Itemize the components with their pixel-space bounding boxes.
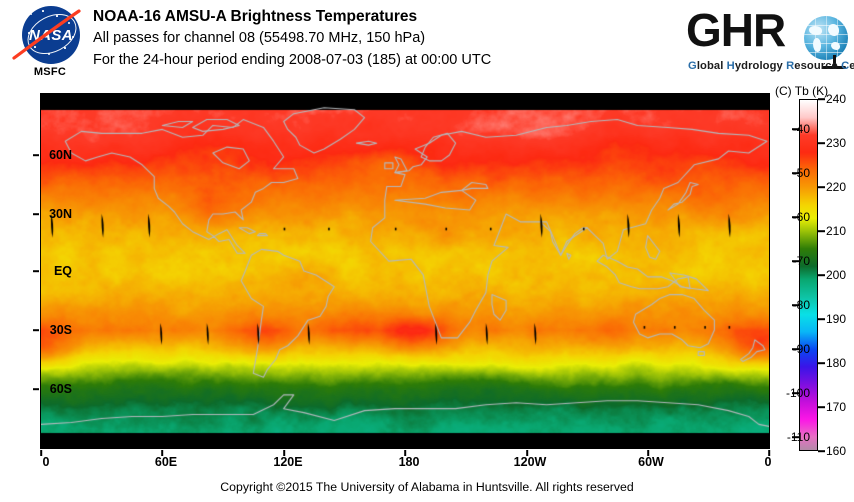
x-axis-tick [40,450,42,456]
colorbar-tick-kelvin [818,274,825,276]
x-axis-tick [404,450,406,456]
colorbar-label-kelvin-240: 240 [826,92,846,106]
colorbar-tick-kelvin [818,186,825,188]
colorbar-tick-kelvin [818,142,825,144]
x-axis-tick [161,450,163,456]
x-axis-tick [283,450,285,456]
globe-icon [804,16,848,60]
y-axis-tick [33,270,39,272]
copyright-notice: Copyright ©2015 The University of Alabam… [0,480,854,494]
x-axis-label-180: 180 [399,455,420,469]
colorbar: 240230220210200190180170160-40-50-60-70-… [799,99,818,451]
colorbar-label-celsius-50: -50 [793,166,810,180]
ghrc-tagline: Global Hydrology Resource Center [688,60,854,72]
ghrc-logo: GHR Global Hydrology Resource Center [686,5,850,77]
x-axis-label-60e: 60E [155,455,177,469]
nasa-center-label: MSFC [12,66,88,78]
colorbar-tick-kelvin [818,318,825,320]
y-axis-tick [33,213,39,215]
page-title: NOAA-16 AMSU-A Brightness Temperatures [93,6,693,27]
x-axis-label-120e: 120E [273,455,302,469]
colorbar-label-celsius-80: -80 [793,298,810,312]
subtitle-period: For the 24-hour period ending 2008-07-03… [93,49,693,71]
colorbar-label-celsius-110: -110 [787,430,810,444]
title-block: NOAA-16 AMSU-A Brightness Temperatures A… [93,6,693,71]
nasa-swoosh-icon [11,8,83,62]
colorbar-label-kelvin-230: 230 [826,136,846,150]
colorbar-label-kelvin-200: 200 [826,268,846,282]
colorbar-label-celsius-100: -100 [786,386,810,400]
colorbar-header: (C) Tb (K) [775,84,828,98]
colorbar-label-kelvin-180: 180 [826,356,846,370]
y-axis-label-30n: 30N [49,207,72,221]
y-axis-tick [33,154,39,156]
x-axis-tick [526,450,528,456]
colorbar-label-kelvin-220: 220 [826,180,846,194]
y-axis-label-60s: 60S [50,382,72,396]
subtitle-channel: All passes for channel 08 (55498.70 MHz,… [93,27,693,49]
brightness-temperature-heatmap [41,94,769,448]
y-axis-label-30s: 30S [50,323,72,337]
figure-root: NASA MSFC NOAA-16 AMSU-A Brightness Temp… [0,0,854,502]
y-axis-label-eq: EQ [54,264,72,278]
colorbar-label-celsius-70: -70 [793,254,810,268]
colorbar-label-kelvin-190: 190 [826,312,846,326]
colorbar-label-kelvin-160: 160 [826,444,846,458]
x-axis-tick [768,450,770,456]
colorbar-tick-kelvin [818,98,825,100]
colorbar-tick-kelvin [818,406,825,408]
x-axis-label-0e: 0 [43,455,50,469]
colorbar-label-celsius-40: -40 [793,122,810,136]
map-plot-area [40,93,770,449]
y-axis-label-60n: 60N [49,148,72,162]
colorbar-tick-kelvin [818,450,825,452]
colorbar-label-kelvin-170: 170 [826,400,846,414]
colorbar-label-kelvin-210: 210 [826,224,846,238]
y-axis-tick [33,329,39,331]
colorbar-tick-kelvin [818,230,825,232]
x-axis-label-60w: 60W [638,455,664,469]
nasa-logo: NASA MSFC [12,4,88,86]
colorbar-tick-kelvin [818,362,825,364]
ghrc-wordmark: GHR [686,3,785,57]
y-axis-tick [33,388,39,390]
x-axis-label-120w: 120W [514,455,547,469]
x-axis-tick [647,450,649,456]
colorbar-label-celsius-60: -60 [793,210,810,224]
x-axis-label-0w: 0 [765,455,772,469]
colorbar-label-celsius-90: -90 [793,342,810,356]
